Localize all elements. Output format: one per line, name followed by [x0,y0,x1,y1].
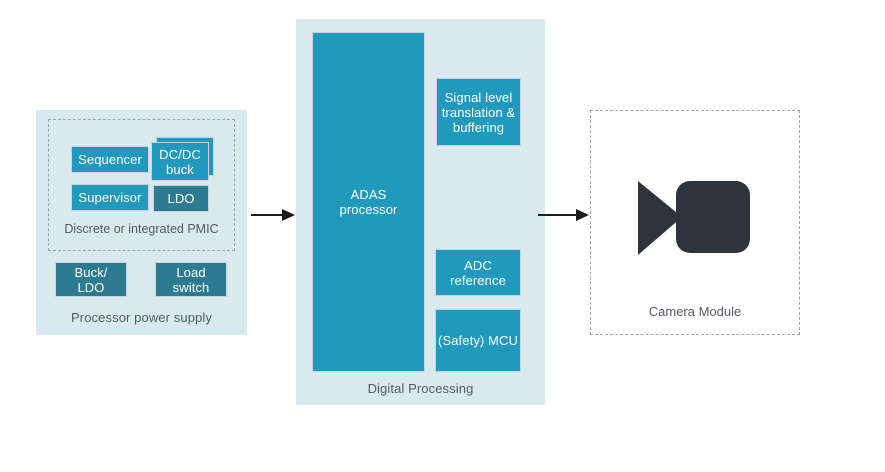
group-discrete-or-integrated-pmic: Sequencer DC/DC buck Supervisor LDO Disc… [48,119,235,251]
block-ldo[interactable]: LDO [153,185,209,212]
group-caption-pmic: Discrete or integrated PMIC [49,222,234,237]
video-camera-icon [636,173,754,261]
block-buck-ldo[interactable]: Buck/ LDO [55,262,127,297]
arrow-head [576,209,589,221]
block-supervisor[interactable]: Supervisor [71,184,149,211]
panel-camera-module: Camera Module [590,110,800,335]
block-dcdc-buck[interactable]: DC/DC buck [151,142,209,181]
block-adas-processor[interactable]: ADAS processor [312,32,425,372]
block-signal-level-translation-buffering[interactable]: Signal level translation & buffering [436,78,521,146]
block-adc-reference[interactable]: ADC reference [435,249,521,296]
arrow-digital-to-camera [538,207,590,223]
arrow-shaft [251,214,284,215]
block-load-switch[interactable]: Load switch [155,262,227,297]
arrow-head [282,209,295,221]
panel-caption-processor-power-supply: Processor power supply [36,310,247,326]
block-safety-mcu[interactable]: (Safety) MCU [435,309,521,372]
panel-caption-digital-processing: Digital Processing [296,381,545,397]
panel-digital-processing: ADAS processor Signal level translation … [296,19,545,405]
block-sequencer[interactable]: Sequencer [71,146,149,173]
diagram-canvas: Sequencer DC/DC buck Supervisor LDO Disc… [0,0,885,472]
arrow-shaft [538,214,578,215]
arrow-power-to-digital [251,207,296,223]
panel-processor-power-supply: Sequencer DC/DC buck Supervisor LDO Disc… [36,110,247,335]
panel-caption-camera-module: Camera Module [591,304,799,319]
